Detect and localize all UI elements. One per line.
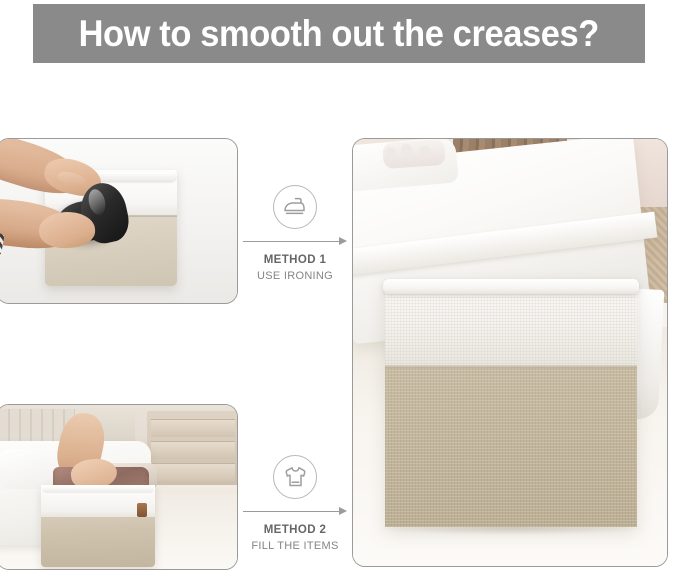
method-block-2: METHOD 2 FILL THE ITEMS: [243, 455, 347, 552]
photo-panel-filling: [0, 404, 238, 570]
method-2-sublabel: FILL THE ITEMS: [243, 540, 347, 552]
photo-ironing-basket: [0, 139, 237, 303]
arrow-head: [339, 237, 347, 245]
photo-panel-ironing: [0, 138, 238, 304]
lace-pillow-trim: [382, 139, 446, 169]
photo-panel-result: [352, 138, 668, 567]
leather-tag: [137, 503, 147, 517]
method-1-sublabel: USE IRONING: [243, 270, 347, 282]
storage-basket: [385, 279, 637, 527]
arrow-line: [243, 241, 340, 242]
iron-icon: [273, 185, 317, 229]
storage-basket: [41, 485, 155, 567]
arrow-right-icon: [243, 236, 347, 246]
photo-result-basket: [353, 139, 667, 566]
dresser-drawer: [151, 463, 235, 481]
arrow-line: [243, 511, 340, 512]
tshirt-icon: [273, 455, 317, 499]
basket-seam: [385, 365, 637, 368]
dresser-drawer: [151, 419, 235, 437]
page-title: How to smooth out the creases?: [79, 13, 599, 55]
dresser: [147, 411, 237, 485]
header-banner: How to smooth out the creases?: [33, 4, 645, 63]
photo-filling-basket: [0, 405, 237, 569]
arrow-head: [339, 507, 347, 515]
dresser-drawer: [151, 441, 235, 459]
basket-rim: [383, 279, 639, 294]
method-1-label: METHOD 1: [243, 254, 347, 266]
method-2-label: METHOD 2: [243, 524, 347, 536]
method-block-1: METHOD 1 USE IRONING: [243, 185, 347, 282]
arrow-right-icon: [243, 506, 347, 516]
basket-rim: [42, 486, 154, 493]
